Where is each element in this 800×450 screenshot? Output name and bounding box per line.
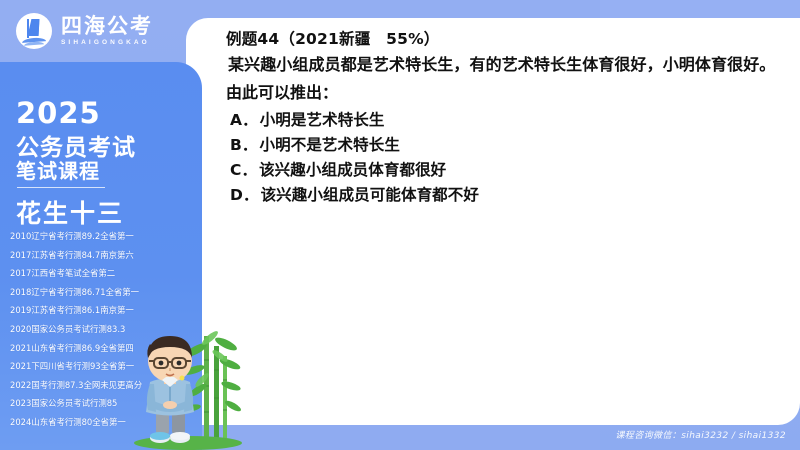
brand-name-cn: 四海公考	[61, 16, 153, 37]
sidebar-divider	[17, 187, 105, 188]
option-c-text: 该兴趣小组成员体育都很好	[259, 161, 446, 179]
brand-name-en: SIHAIGONGKAO	[61, 40, 153, 47]
option-a-text: 小明是艺术特长生	[260, 111, 385, 129]
option-a[interactable]: A．小明是艺术特长生	[230, 108, 784, 133]
question-block: 例题44（2021新疆 55%） 某兴趣小组成员都是艺术特长生，有的艺术特长生体…	[202, 28, 784, 208]
option-a-label: A．	[230, 111, 258, 129]
list-item: 2019江苏省考行测86.1南京第一	[10, 306, 196, 314]
instructor-name: 花生十三	[16, 194, 124, 230]
list-item: 2010辽宁省考行测89.2全省第一	[10, 232, 196, 240]
list-item: 2017江西省考笔试全省第二	[10, 269, 196, 277]
option-d-text: 该兴趣小组成员可能体育都不好	[261, 186, 479, 204]
list-item: 2018辽宁省考行测86.71全省第一	[10, 288, 196, 296]
slide-content-card: 例题44（2021新疆 55%） 某兴趣小组成员都是艺术特长生，有的艺术特长生体…	[186, 18, 800, 425]
option-c-label: C．	[230, 161, 257, 179]
option-b-label: B．	[230, 136, 258, 154]
question-number: 例题44（2021新疆 55%）	[226, 28, 784, 51]
right-eye	[177, 361, 182, 366]
contact-watermark: 课程咨询微信：sihai3232 / sihai1332	[615, 428, 786, 441]
brand-header: 四海公考 SIHAIGONGKAO	[0, 0, 202, 62]
instructor-cartoon-illustration	[126, 330, 244, 450]
option-d[interactable]: D．该兴趣小组成员可能体育都不好	[230, 183, 784, 208]
left-eye	[159, 361, 164, 366]
lanyard-badge	[180, 376, 185, 381]
brand-wordmark: 四海公考 SIHAIGONGKAO	[61, 16, 153, 47]
question-stem: 某兴趣小组成员都是艺术特长生，有的艺术特长生体育很好，小明体育很好。	[202, 53, 784, 77]
question-lead-in: 由此可以推出：	[226, 81, 784, 105]
sailboat-circle-icon	[16, 13, 52, 49]
slide-canvas: 四海公考 SIHAIGONGKAO 2025 公务员考试 笔试课程 花生十三 2…	[0, 0, 800, 450]
option-c[interactable]: C．该兴趣小组成员体育都很好	[230, 158, 784, 183]
bamboo-icon	[182, 330, 242, 442]
option-d-label: D．	[230, 186, 259, 204]
course-year: 2025	[16, 96, 101, 130]
course-title-line2: 笔试课程	[16, 155, 100, 184]
option-b[interactable]: B．小明不是艺术特长生	[230, 133, 784, 158]
hands	[163, 401, 177, 409]
option-b-text: 小明不是艺术特长生	[260, 136, 400, 154]
list-item: 2017江苏省考行测84.7南京第六	[10, 251, 196, 259]
answer-options: A．小明是艺术特长生 B．小明不是艺术特长生 C．该兴趣小组成员体育都很好 D．…	[230, 108, 784, 208]
